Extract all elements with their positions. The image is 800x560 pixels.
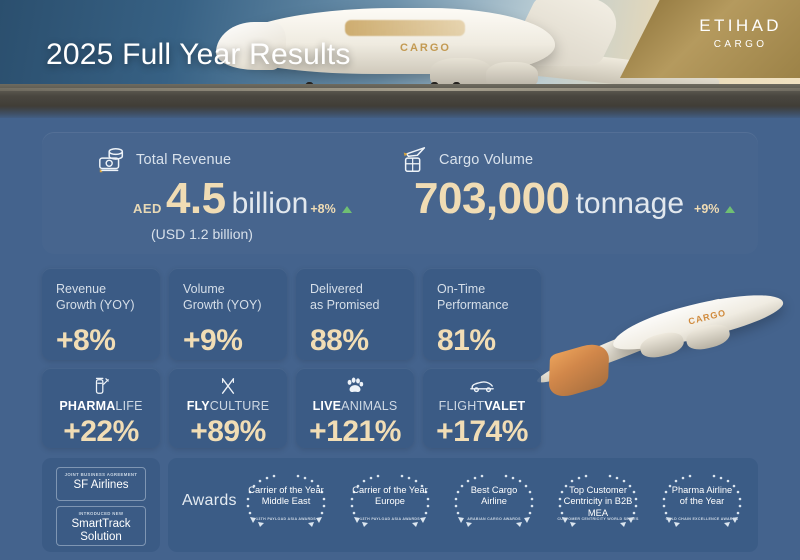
paw-print-icon [345,376,365,396]
award-badge: Top Customer Centricity in B2B MEA CUSTO… [548,469,648,539]
revenue-usd-note: (USD 1.2 billion) [151,226,352,242]
awards-label: Awards [182,492,237,510]
kpi-title: Delivered as Promised [310,281,414,313]
hero-aircraft-cargo-text: CARGO [400,42,451,54]
product-name: LIVEANIMALS [296,399,414,413]
partner-smarttrack-solution: INTRODUCED NEW SmartTrack Solution [56,506,146,546]
vaccine-vial-icon [92,376,110,396]
brand-logo-name: ETIHAD [699,16,782,36]
product-name: FLIGHTVALET [423,399,541,413]
plane-box-icon [400,145,430,175]
volume-up-arrow-icon [725,206,735,213]
kpi-value: +9% [183,326,287,356]
product-card-flightvalet: FLIGHTVALET +174% [423,368,541,448]
crossed-cutlery-icon [219,376,237,396]
total-revenue-block: Total Revenue AED 4.5 billion +8% (USD 1… [97,145,352,242]
product-value: +174% [423,417,541,447]
awards-list: Carrier of the Year Middle East 13TH PAY… [236,469,752,539]
award-source: COLD CHAIN EXCELLENCE AWARDS [658,517,746,521]
award-badge: Carrier of the Year Europe 13TH PAYLOAD … [340,469,440,539]
brand-logo-subtitle: CARGO [699,39,782,50]
awards-panel: Awards Carrier of the Ye [168,458,758,552]
car-icon [469,378,495,394]
cargo-volume-header: Cargo Volume [400,145,735,175]
brand-logo: ETIHAD CARGO [699,16,782,50]
kpi-title: Volume Growth (YOY) [183,281,287,313]
partner-caption: JOINT BUSINESS AGREEMENT [57,472,145,477]
partner-name: SF Airlines [57,479,145,492]
kpi-card-on-time-performance: On-Time Performance 81% [423,268,541,360]
product-value: +22% [42,417,160,447]
revenue-currency: AED [133,201,162,216]
summary-panel: Total Revenue AED 4.5 billion +8% (USD 1… [42,132,758,254]
page-title: 2025 Full Year Results [46,38,351,72]
volume-unit: tonnage [576,187,684,221]
kpi-card-delivered-as-promised: Delivered as Promised 88% [296,268,414,360]
kpi-value: 88% [310,326,414,356]
kpi-title: Revenue Growth (YOY) [56,281,160,313]
award-badge: Best Cargo Airline ARABIAN CARGO AWARDS [444,469,544,539]
revenue-delta: +8% [310,202,335,216]
award-source: CUSTOMER CENTRICITY WORLD SERIES [554,517,642,521]
product-icon-wrap [296,376,414,396]
partnerships-card: JOINT BUSINESS AGREEMENT SF Airlines INT… [42,458,160,552]
flying-aircraft-tail [548,338,609,401]
volume-delta: +9% [694,202,719,216]
kpi-value: 81% [437,326,541,356]
hero-fade-overlay [0,98,800,118]
product-icon-wrap [169,376,287,396]
product-value: +89% [169,417,287,447]
money-stack-icon [97,145,127,175]
revenue-unit: billion [232,187,309,221]
product-icon-wrap [42,376,160,396]
cargo-volume-block: Cargo Volume 703,000 tonnage +9% [400,145,735,221]
award-badge: Carrier of the Year Middle East 13TH PAY… [236,469,336,539]
hero-aircraft-livery [345,20,465,36]
partner-caption: INTRODUCED NEW [57,511,145,516]
product-name: PHARMALIFE [42,399,160,413]
award-source: 13TH PAYLOAD ASIA AWARDS [346,517,434,521]
total-revenue-header: Total Revenue [97,145,352,175]
cargo-volume-value-row: 703,000 tonnage +9% [414,177,735,221]
product-card-pharmalife: PHARMALIFE +22% [42,368,160,448]
product-card-flyculture: FLYCULTURE +89% [169,368,287,448]
volume-amount: 703,000 [414,177,570,221]
total-revenue-value-row: AED 4.5 billion +8% [133,177,352,221]
award-badge: Pharma Airline of the Year COLD CHAIN EX… [652,469,752,539]
product-card-liveanimals: LIVEANIMALS +121% [296,368,414,448]
award-title: Best Cargo Airline [454,485,534,508]
product-name: FLYCULTURE [169,399,287,413]
kpi-card-volume-growth: Volume Growth (YOY) +9% [169,268,287,360]
award-title: Pharma Airline of the Year [662,485,742,508]
partner-sf-airlines: JOINT BUSINESS AGREEMENT SF Airlines [56,467,146,501]
award-source: ARABIAN CARGO AWARDS [450,517,538,521]
award-title: Top Customer Centricity in B2B MEA [558,485,638,519]
infographic-page: CARGO 2025 Full Year Results ETIHAD CARG… [0,0,800,560]
revenue-amount: 4.5 [166,177,226,221]
cargo-volume-label: Cargo Volume [439,152,533,168]
kpi-card-revenue-growth: Revenue Growth (YOY) +8% [42,268,160,360]
product-icon-wrap [423,376,541,396]
flying-aircraft-image: CARGO [520,286,800,431]
award-title: Carrier of the Year Europe [350,485,430,508]
total-revenue-label: Total Revenue [136,152,231,168]
partner-name: SmartTrack Solution [57,518,145,544]
kpi-value: +8% [56,326,160,356]
revenue-up-arrow-icon [342,206,352,213]
kpi-title: On-Time Performance [437,281,541,313]
award-source: 13TH PAYLOAD ASIA AWARDS [242,517,330,521]
award-title: Carrier of the Year Middle East [246,485,326,508]
product-value: +121% [296,417,414,447]
